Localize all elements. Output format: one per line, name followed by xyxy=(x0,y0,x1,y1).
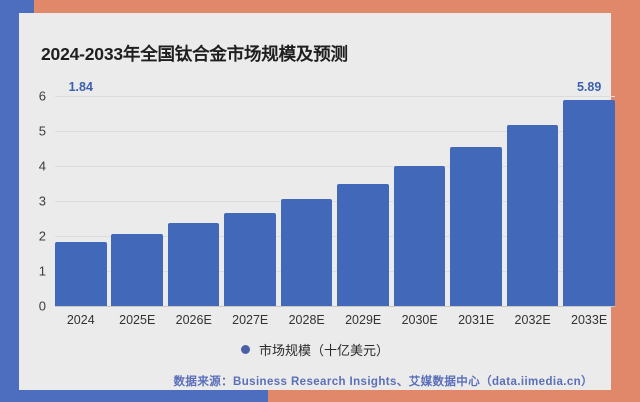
bar-2030E[interactable] xyxy=(394,166,446,306)
bar-slot-2031E[interactable]: 2031E xyxy=(450,96,502,306)
x-axis-tick-2025E: 2025E xyxy=(119,314,155,327)
x-axis-tick-2033E: 2033E xyxy=(571,314,607,327)
y-axis-tick-5: 5 xyxy=(39,125,46,138)
legend-item-label: 市场规模（十亿美元） xyxy=(259,340,389,359)
x-axis-tick-2028E: 2028E xyxy=(289,314,325,327)
decoration-orange-top xyxy=(34,0,640,14)
bar-2031E[interactable] xyxy=(450,147,502,306)
bar-slot-2033E[interactable]: 5.89 2033E xyxy=(563,96,615,306)
legend-marker-icon xyxy=(241,345,250,354)
y-axis-tick-0: 0 xyxy=(39,300,46,313)
x-axis-tick-2024: 2024 xyxy=(67,314,95,327)
plot-area: 6 5 4 3 2 1 0 1.84 xyxy=(55,96,615,306)
infographic-frame: 2024-2033年全国钛合金市场规模及预测 6 5 4 3 2 1 0 xyxy=(0,0,640,402)
bar-slot-2028E[interactable]: 2028E xyxy=(281,96,333,306)
bar-2029E[interactable] xyxy=(337,184,389,306)
bar-2027E[interactable] xyxy=(224,213,276,306)
chart-title: 2024-2033年全国钛合金市场规模及预测 xyxy=(41,41,348,66)
y-axis-tick-6: 6 xyxy=(39,90,46,103)
bar-slot-2027E[interactable]: 2027E xyxy=(224,96,276,306)
bar-series: 1.84 2024 2025E 2026E 2027E xyxy=(55,96,615,306)
y-axis-tick-3: 3 xyxy=(39,195,46,208)
x-axis-tick-2029E: 2029E xyxy=(345,314,381,327)
y-axis-tick-1: 1 xyxy=(39,265,46,278)
y-axis-tick-4: 4 xyxy=(39,160,46,173)
bar-2033E[interactable] xyxy=(563,100,615,306)
bar-2024[interactable] xyxy=(55,242,107,306)
x-axis-tick-2031E: 2031E xyxy=(458,314,494,327)
chart-card: 2024-2033年全国钛合金市场规模及预测 6 5 4 3 2 1 0 xyxy=(19,13,611,390)
bar-slot-2030E[interactable]: 2030E xyxy=(394,96,446,306)
source-note: 数据来源：Business Research Insights、艾媒数据中心（d… xyxy=(174,373,593,389)
x-axis-tick-2030E: 2030E xyxy=(402,314,438,327)
bar-slot-2029E[interactable]: 2029E xyxy=(337,96,389,306)
bar-value-label-2033E: 5.89 xyxy=(577,81,601,94)
x-axis-tick-2026E: 2026E xyxy=(176,314,212,327)
bar-value-label-2024: 1.84 xyxy=(69,81,93,94)
x-axis-tick-2027E: 2027E xyxy=(232,314,268,327)
bar-slot-2024[interactable]: 1.84 2024 xyxy=(55,96,107,306)
x-axis-tick-2032E: 2032E xyxy=(515,314,551,327)
gridline-0: 0 xyxy=(55,306,615,307)
bar-2025E[interactable] xyxy=(111,234,163,306)
bar-slot-2025E[interactable]: 2025E xyxy=(111,96,163,306)
bar-2026E[interactable] xyxy=(168,223,220,306)
y-axis-tick-2: 2 xyxy=(39,230,46,243)
bar-2032E[interactable] xyxy=(507,125,559,306)
bar-slot-2032E[interactable]: 2032E xyxy=(507,96,559,306)
chart-legend: 市场规模（十亿美元） xyxy=(19,340,611,359)
bar-2028E[interactable] xyxy=(281,199,333,306)
bar-slot-2026E[interactable]: 2026E xyxy=(168,96,220,306)
